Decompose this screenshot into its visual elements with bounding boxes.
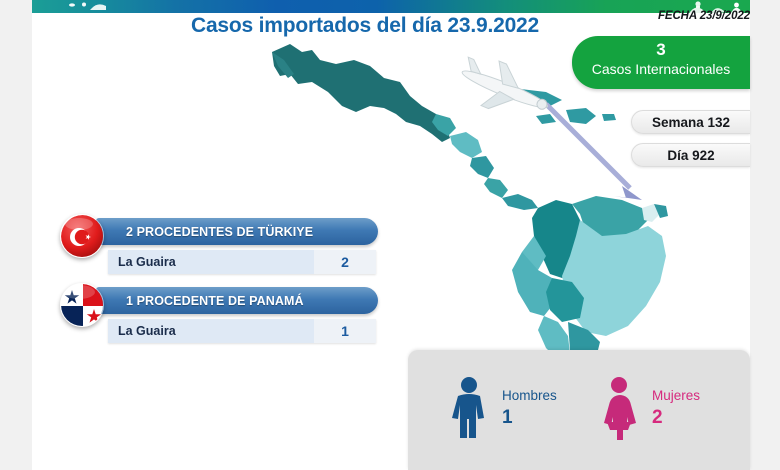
header-ribbon	[32, 0, 750, 13]
row-count: 2	[314, 250, 376, 274]
row-location: La Guaira	[108, 255, 314, 269]
map-region-costa-rica	[484, 178, 508, 198]
row-count: 1	[314, 319, 376, 343]
gender-value-male: 1	[502, 406, 557, 430]
gender-text-female: Mujeres 2	[652, 386, 700, 430]
card-banner-turkiye: 2 PROCEDENTES DE TÜRKIYE	[96, 218, 378, 245]
ribbon-dots-icon	[64, 1, 144, 13]
gender-group-male: Hombres 1	[448, 376, 557, 440]
gender-label-female: Mujeres	[652, 386, 700, 406]
panama-flag-icon	[60, 283, 104, 327]
map-region-nicaragua	[470, 156, 494, 178]
card-banner-panama: 1 PROCEDENTE DE PANAMÁ	[96, 287, 378, 314]
gender-label-male: Hombres	[502, 386, 557, 406]
gender-group-female: Mujeres 2	[598, 376, 700, 440]
slide-root: Casos importados del día 23.9.2022 FECHA…	[0, 0, 780, 470]
map-region-hispaniola	[566, 108, 596, 124]
fecha-label: FECHA 23/9/2022	[658, 10, 750, 22]
gender-panel: Hombres 1 Mujeres 2	[408, 350, 750, 470]
male-figure-icon	[448, 376, 490, 440]
table-row: La Guaira 1	[108, 319, 376, 343]
gender-value-female: 2	[652, 406, 700, 430]
turkey-flag-icon	[60, 214, 104, 258]
table-row: La Guaira 2	[108, 250, 376, 274]
map-region-honduras	[450, 132, 482, 158]
map-region-brazil	[562, 220, 666, 336]
map-region-mexico	[272, 44, 450, 142]
map-region-puerto-rico	[602, 114, 616, 121]
female-figure-icon	[598, 376, 640, 440]
map-region-panama	[502, 194, 538, 210]
row-location: La Guaira	[108, 324, 314, 338]
gender-text-male: Hombres 1	[502, 386, 557, 430]
map-region-jamaica	[536, 114, 556, 124]
